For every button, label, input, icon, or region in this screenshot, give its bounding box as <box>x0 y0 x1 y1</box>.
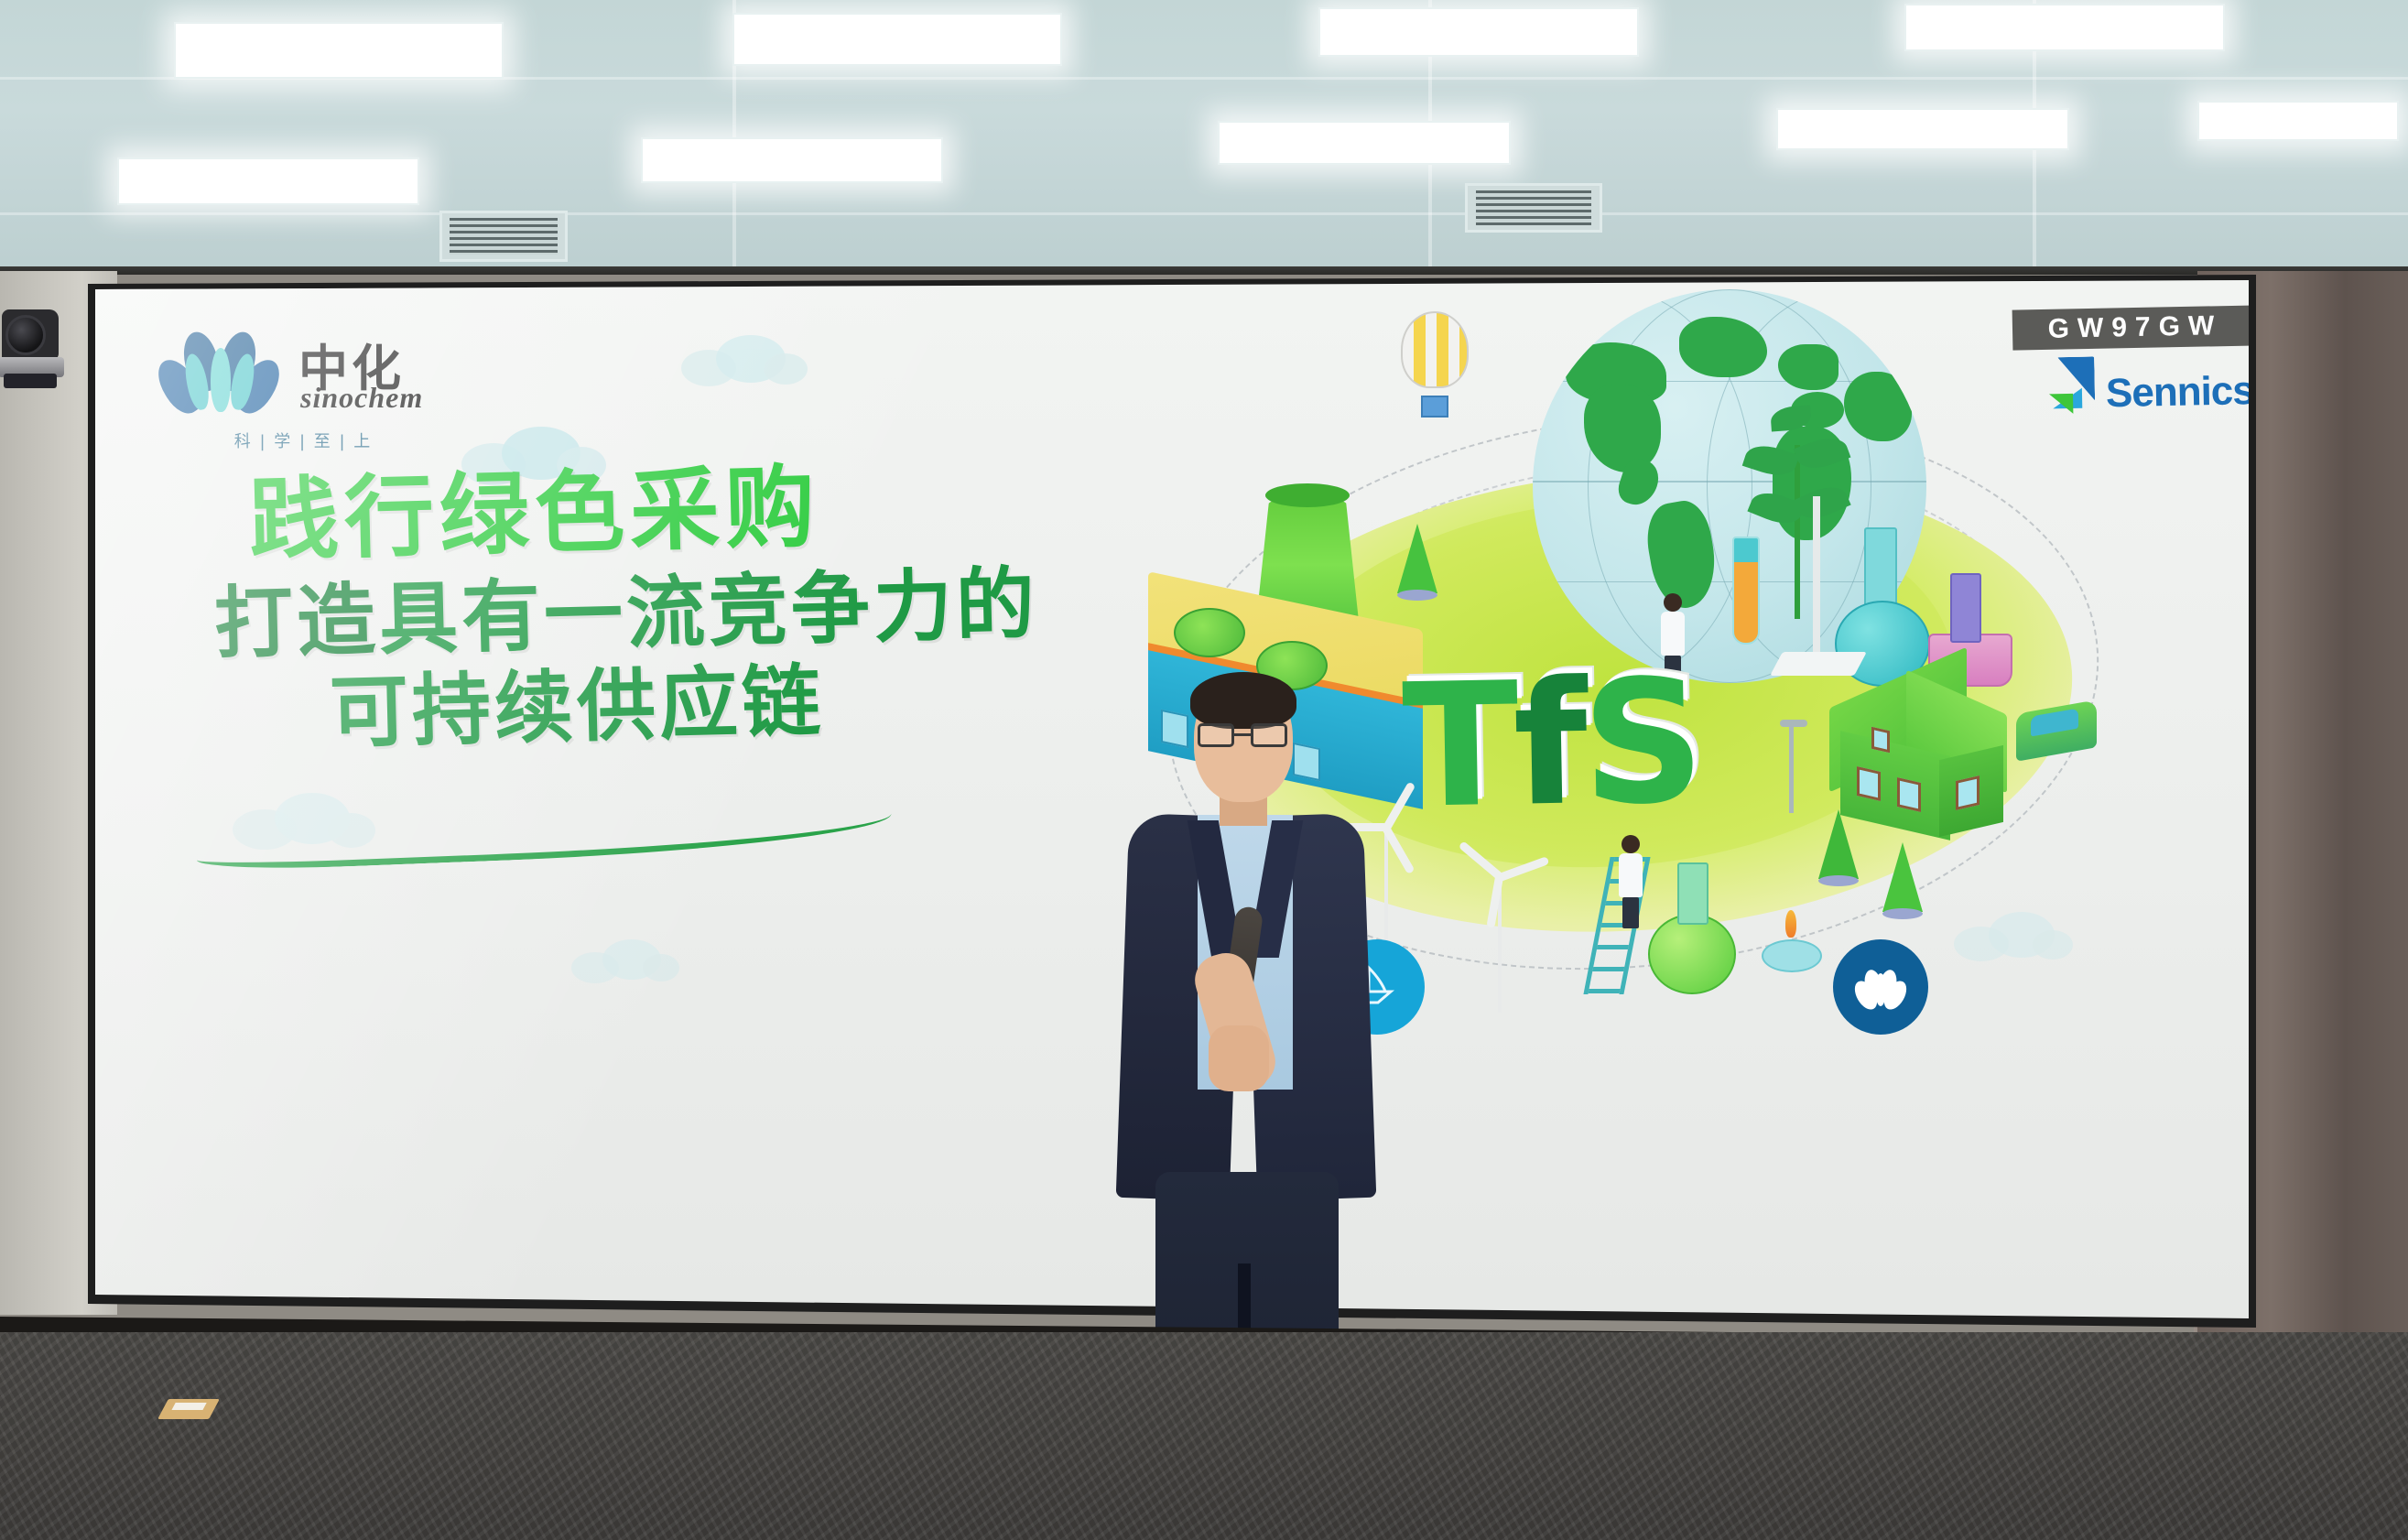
street-lamp <box>1789 725 1794 813</box>
headline-line-1: 践行绿色采购 <box>248 452 1186 570</box>
house-illustration <box>1820 678 2012 842</box>
sinochem-circle-badge <box>1833 939 1928 1035</box>
ceiling-light-panel <box>1218 121 1511 165</box>
cooling-tower-rim <box>1265 483 1350 507</box>
street-lamp-head <box>1780 720 1807 727</box>
headline-line-3: 可持续供应链 <box>329 652 1186 756</box>
tree-base <box>1818 875 1859 886</box>
sinochem-logo: 中化 sinochem 科 | 学 | 至 | 上 <box>163 328 428 465</box>
brand-name-en: sinochem <box>300 381 423 415</box>
headline-line-2-accent: 打造 <box>213 574 380 669</box>
hot-air-balloon-icon <box>1401 311 1469 418</box>
lab-stand <box>1813 496 1820 661</box>
conical-flask-neck <box>1950 573 1981 643</box>
burner-flame <box>1785 910 1796 938</box>
ceiling-light-panel <box>117 157 419 205</box>
large-round-flask <box>1648 914 1736 994</box>
ceiling-light-panel <box>2197 101 2399 141</box>
tree-icon <box>1397 524 1437 593</box>
tfs-f: f <box>1512 644 1584 843</box>
ceiling-light-panel <box>641 137 943 183</box>
ceiling-light-panel <box>1776 108 2069 150</box>
large-flask-neck <box>1677 862 1708 925</box>
hvac-vent <box>439 211 568 262</box>
conference-room-photo: 中化 sinochem 科 | 学 | 至 | 上 践行绿色采购 打造具有一流竞… <box>0 0 2408 1540</box>
headline-block: 践行绿色采购 打造具有一流竞争力的 可持续供应链 <box>214 463 1185 745</box>
brand-tagline: 科 | 学 | 至 | 上 <box>189 428 418 452</box>
tree-icon <box>1882 842 1923 912</box>
hair <box>1190 672 1296 729</box>
test-tube <box>1732 537 1760 645</box>
ceiling-light-panel <box>174 22 504 79</box>
tfs-s: S <box>1580 642 1701 842</box>
hand <box>1209 1025 1269 1091</box>
ceiling-light-panel <box>1904 4 2225 51</box>
tree-base <box>1397 590 1437 601</box>
ceiling-light-panel <box>1318 7 1639 57</box>
tree-base <box>1882 908 1923 919</box>
scientist-on-ladder <box>1619 835 1643 928</box>
headline-line-2-rest: 具有一流竞争力的 <box>378 559 1039 667</box>
tfs-t: T <box>1401 645 1515 846</box>
ptz-camera-icon <box>2 309 68 388</box>
eyeglasses-icon <box>1198 723 1289 747</box>
paper-card-on-floor <box>157 1399 220 1419</box>
headline-line-2: 打造具有一流竞争力的 <box>213 559 1186 667</box>
ceiling-light-panel <box>732 13 1062 66</box>
bunsen-burner <box>1762 939 1822 972</box>
tfs-logotype: TfS <box>1401 642 1701 846</box>
lotus-icon <box>163 330 280 418</box>
hvac-vent <box>1465 183 1602 233</box>
carpet-floor <box>0 1332 2408 1540</box>
plant-stem <box>1795 445 1800 619</box>
lab-stand-base <box>1770 652 1867 676</box>
